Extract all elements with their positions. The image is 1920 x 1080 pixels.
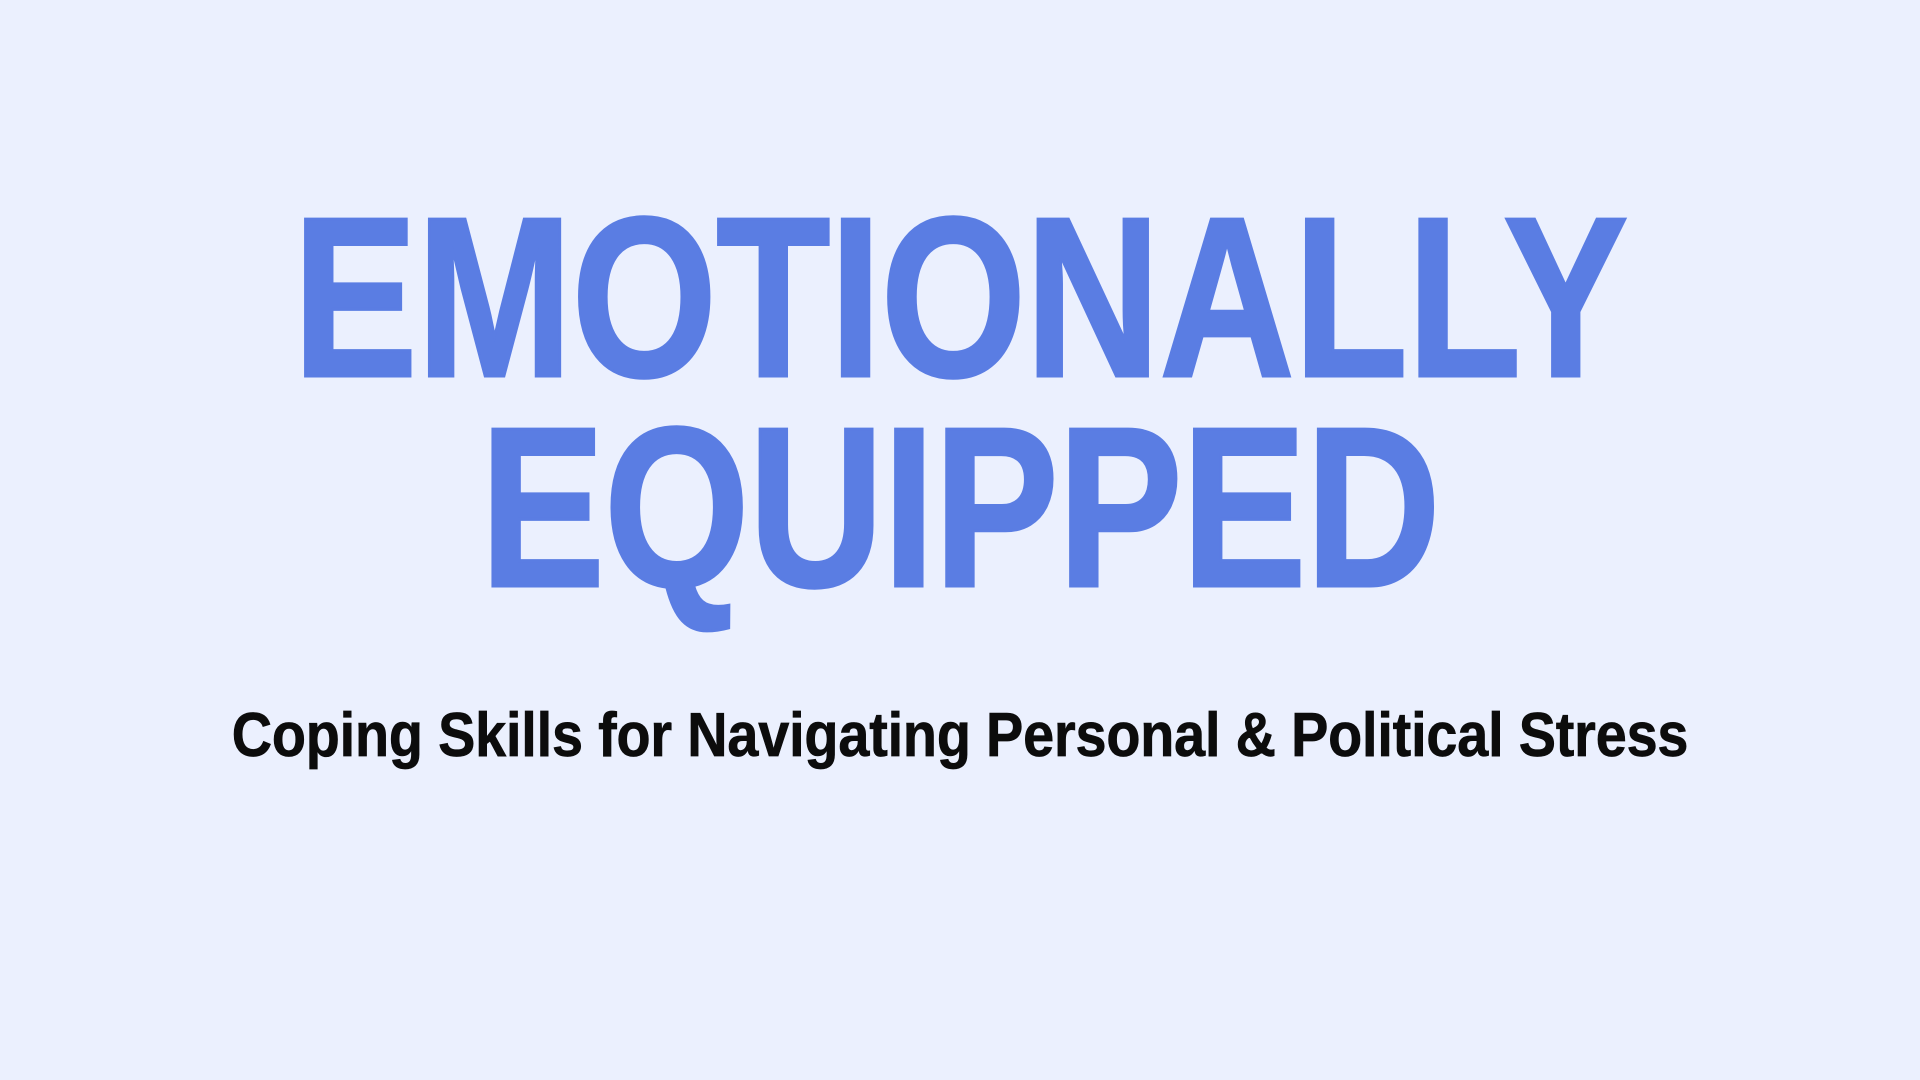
page-title: EMOTIONALLY EQUIPPED [173,194,1747,614]
headline-line-1: EMOTIONALLY [173,194,1747,404]
slide-content-stack: EMOTIONALLY EQUIPPED Coping Skills for N… [0,0,1920,1080]
headline-line-2: EQUIPPED [173,404,1747,614]
page-subtitle: Coping Skills for Navigating Personal & … [96,702,1824,770]
title-slide: EMOTIONALLY EQUIPPED Coping Skills for N… [0,0,1920,1080]
headline-top-spacer [960,0,961,194]
